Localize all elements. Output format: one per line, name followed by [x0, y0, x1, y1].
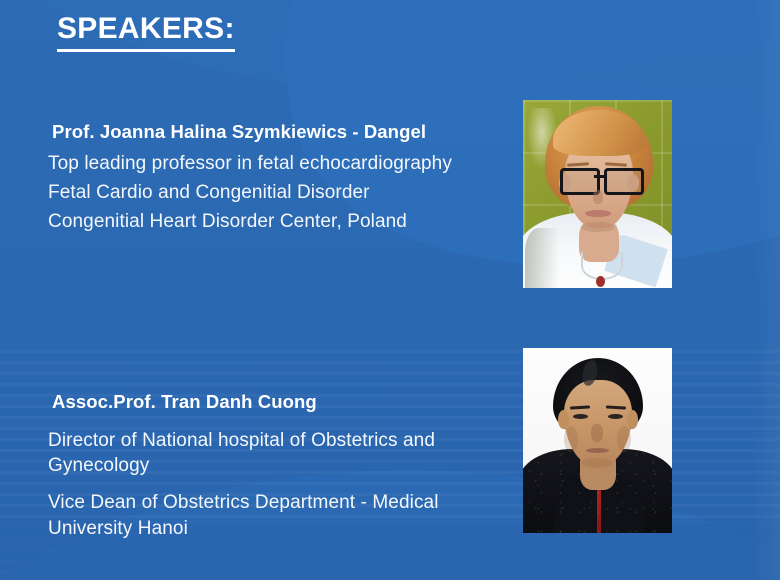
speaker-2-line-2: Vice Dean of Obstetrics Department - Med… — [48, 490, 495, 541]
speaker-1-line-3: Congenitial Heart Disorder Center, Polan… — [48, 208, 515, 236]
chin-shadow-shape — [581, 222, 615, 232]
right-cheek-shadow — [617, 426, 631, 452]
nose-shape — [593, 190, 603, 204]
eyeglasses-shape — [559, 168, 639, 190]
glasses-bridge-shape — [594, 175, 606, 178]
necklace-pendant — [596, 276, 605, 287]
page-title: SPEAKERS: — [57, 12, 235, 52]
presentation-slide: SPEAKERS: Prof. Joanna Halina Szymkiewic… — [0, 0, 780, 580]
right-lens-shape — [604, 168, 644, 195]
speaker-1-photo-content — [523, 100, 672, 288]
speaker-2-photo-content — [523, 348, 672, 533]
right-eye-shape — [608, 414, 623, 419]
speaker-2-details: Assoc.Prof. Tran Danh Cuong Director of … — [45, 388, 495, 552]
background-right-edge-highlight — [754, 0, 780, 580]
right-ear-shape — [627, 410, 638, 429]
speaker-2-line-1: Director of National hospital of Obstetr… — [48, 428, 495, 479]
nose-shape — [591, 424, 603, 442]
speaker-1-details: Prof. Joanna Halina Szymkiewics - Dangel… — [45, 118, 515, 237]
chin-shadow-shape — [581, 458, 613, 468]
speaker-1-line-2: Fetal Cardio and Congenitial Disorder — [48, 179, 515, 207]
speaker-1-photo — [523, 100, 672, 288]
lips-shape — [586, 448, 609, 453]
speaker-1-line-1: Top leading professor in fetal echocardi… — [48, 150, 515, 178]
speaker-2-photo — [523, 348, 672, 533]
coat-shadow — [525, 228, 559, 288]
speaker-1-name: Prof. Joanna Halina Szymkiewics - Dangel — [52, 118, 515, 146]
left-cheek-shadow — [564, 426, 578, 452]
lips-shape — [585, 210, 611, 217]
speaker-2-name: Assoc.Prof. Tran Danh Cuong — [52, 388, 495, 416]
left-eye-shape — [573, 414, 588, 419]
